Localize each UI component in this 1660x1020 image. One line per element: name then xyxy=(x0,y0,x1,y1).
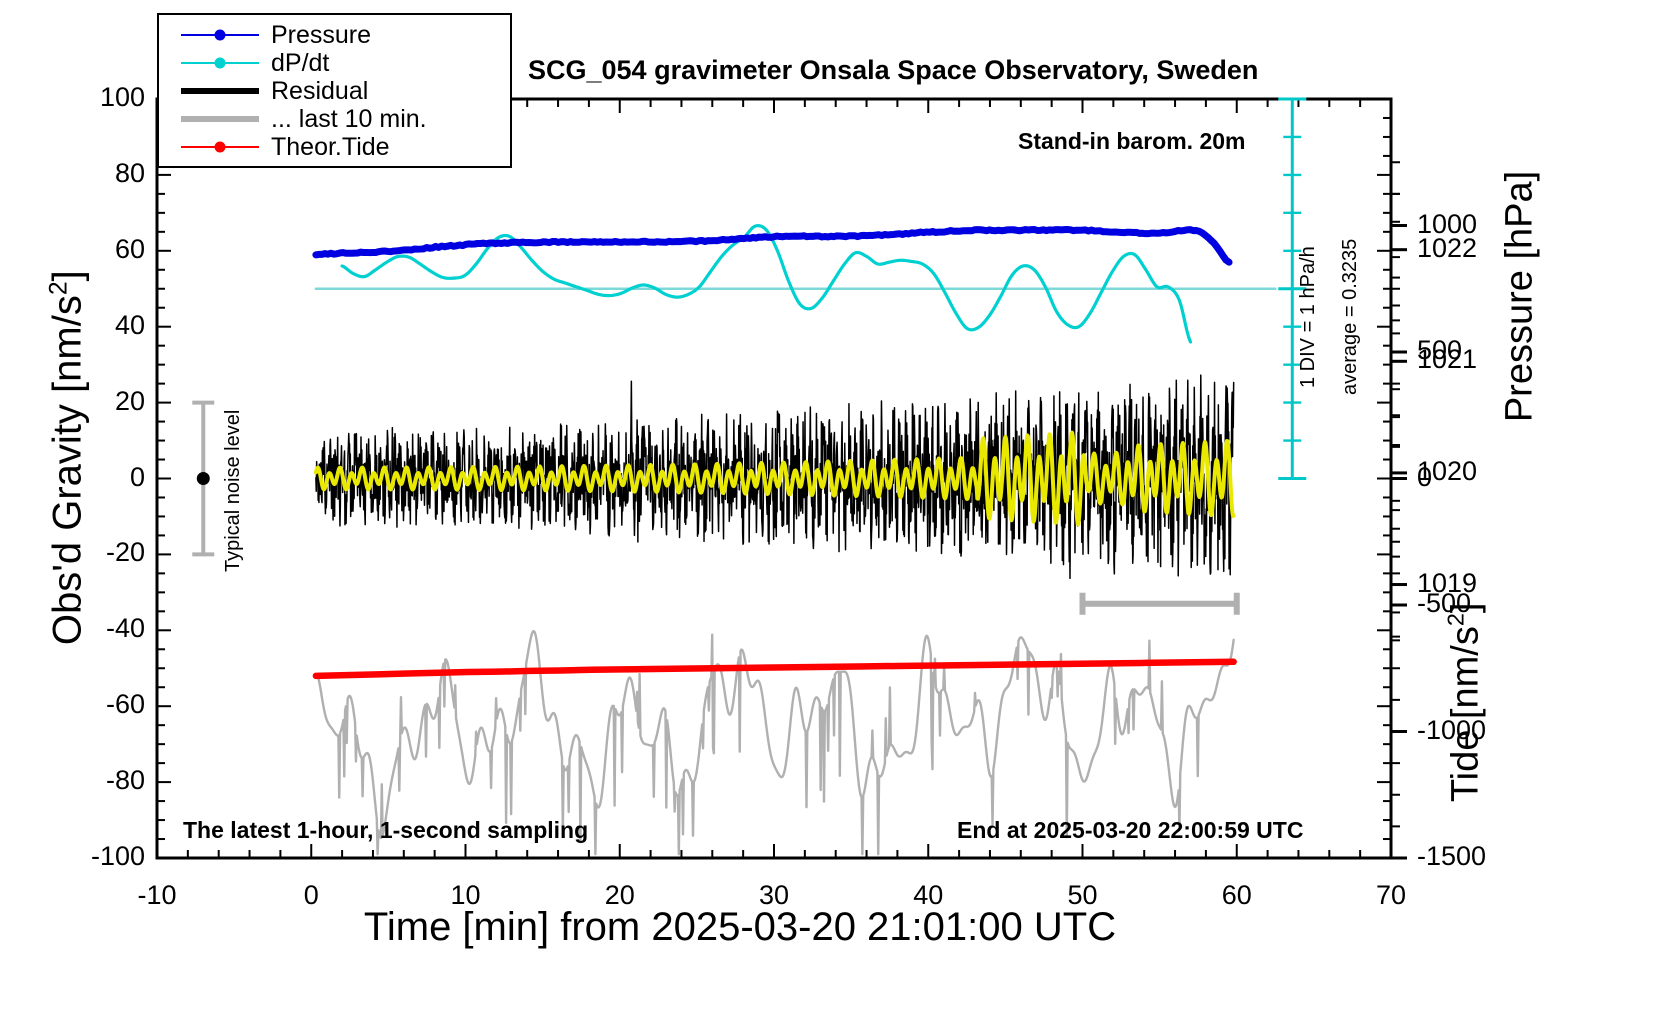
ticks-bot-label: 20 xyxy=(580,880,660,911)
chart-page: SCG_054 gravimeter Onsala Space Observat… xyxy=(0,0,1660,1020)
ticks-left-label: 20 xyxy=(45,386,145,417)
chart-title: SCG_054 gravimeter Onsala Space Observat… xyxy=(528,55,1258,86)
legend-label: Residual xyxy=(271,77,368,106)
ticks-bot-label: -10 xyxy=(117,880,197,911)
legend-swatch-icon xyxy=(181,137,259,157)
ticks-bot-label: 50 xyxy=(1043,880,1123,911)
legend-label: Pressure xyxy=(271,21,371,50)
legend-item-1[interactable]: dP/dt xyxy=(159,49,510,77)
legend-dot-icon xyxy=(215,142,226,153)
legend-swatch-icon xyxy=(181,81,259,101)
ticks-left-label: 60 xyxy=(45,234,145,265)
pressure-curve xyxy=(316,229,1229,262)
ticks-tide-label: 500 xyxy=(1417,335,1527,366)
sampling-note-annotation: The latest 1-hour, 1-second sampling xyxy=(183,817,588,844)
legend-swatch-icon xyxy=(181,109,259,129)
ticks-left-label: -20 xyxy=(45,537,145,568)
end-time-annotation: End at 2025-03-20 22:00:59 UTC xyxy=(957,817,1303,844)
ticks-bot-label: 70 xyxy=(1351,880,1431,911)
ticks-bot-label: 30 xyxy=(734,880,814,911)
x-axis-label: Time [min] from 2025-03-20 21:01:00 UTC xyxy=(0,905,1480,950)
legend-item-0[interactable]: Pressure xyxy=(159,21,510,49)
ticks-tide-label: -1000 xyxy=(1417,715,1527,746)
ticks-left-label: -60 xyxy=(45,689,145,720)
legend-dot-icon xyxy=(215,30,226,41)
ticks-left-label: 80 xyxy=(45,158,145,189)
ticks-left-label: 40 xyxy=(45,310,145,341)
ticks-left-label: -80 xyxy=(45,765,145,796)
legend-dot-icon xyxy=(215,58,226,69)
ticks-bot-label: 10 xyxy=(426,880,506,911)
y-axis-label-left-sup: 2 xyxy=(45,281,72,295)
ticks-tide-label: 0 xyxy=(1417,462,1527,493)
y-axis-label-left-tail: ] xyxy=(46,270,90,281)
y-axis-label-pressure: Pressure [hPa] xyxy=(1499,17,1542,577)
noise-level-dot xyxy=(197,472,210,485)
ticks-left-label: -40 xyxy=(45,613,145,644)
legend-line xyxy=(181,116,259,122)
legend-item-3[interactable]: ... last 10 min. xyxy=(159,105,510,133)
legend-swatch-icon xyxy=(181,25,259,45)
legend-label: Theor.Tide xyxy=(271,133,390,162)
legend-label: dP/dt xyxy=(271,49,329,78)
dpdt-average-label: average = 0.3235 xyxy=(1339,239,1362,395)
ticks-left-label: 0 xyxy=(45,462,145,493)
ticks-left-label: 100 xyxy=(45,82,145,113)
legend-swatch-icon xyxy=(181,53,259,73)
stand-in-barometer-annotation: Stand-in barom. 20m xyxy=(1018,128,1245,155)
legend-line xyxy=(181,88,259,94)
legend-label: ... last 10 min. xyxy=(271,105,427,134)
dpdt-div-label: 1 DIV = 1 hPa/h xyxy=(1297,246,1320,388)
ticks-tide-label: -1500 xyxy=(1417,841,1527,872)
typical-noise-level-label: Typical noise level xyxy=(222,410,245,572)
ticks-bot-label: 60 xyxy=(1197,880,1277,911)
ticks-bot-label: 0 xyxy=(271,880,351,911)
chart-legend: PressuredP/dtResidual... last 10 min.The… xyxy=(157,13,512,168)
ticks-bot-label: 40 xyxy=(888,880,968,911)
theor-tide-curve xyxy=(316,662,1234,676)
legend-item-4[interactable]: Theor.Tide xyxy=(159,133,510,161)
legend-item-2[interactable]: Residual xyxy=(159,77,510,105)
ticks-tide-label: 1000 xyxy=(1417,209,1527,240)
ticks-left-label: -100 xyxy=(45,841,145,872)
ticks-tide-label: -500 xyxy=(1417,588,1527,619)
